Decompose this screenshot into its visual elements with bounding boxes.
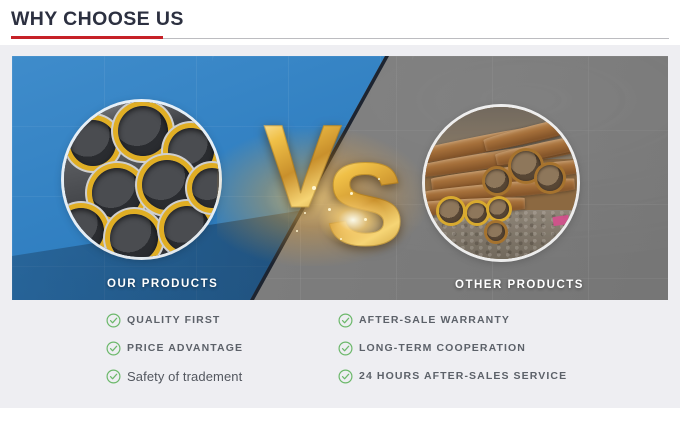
list-item: AFTER-SALE WARRANTY — [338, 306, 567, 334]
check-circle-icon — [106, 369, 121, 384]
list-item: Safety of tradement — [106, 362, 243, 390]
feature-label: QUALITY FIRST — [127, 314, 220, 326]
check-circle-icon — [106, 341, 121, 356]
check-circle-icon — [338, 369, 353, 384]
check-circle-icon — [338, 341, 353, 356]
versus-letter-s: S — [326, 146, 405, 264]
feature-column-right: AFTER-SALE WARRANTY LONG-TERM COOPERATIO… — [338, 306, 567, 390]
check-circle-icon — [106, 313, 121, 328]
other-products-image — [425, 107, 577, 259]
page-title: WHY CHOOSE US — [11, 8, 184, 31]
list-item: PRICE ADVANTAGE — [106, 334, 243, 362]
other-products-caption: OTHER PRODUCTS — [455, 279, 584, 291]
why-choose-us-section: WHY CHOOSE US — [0, 0, 680, 427]
our-products-caption: OUR PRODUCTS — [107, 278, 218, 290]
versus-emblem: V S — [260, 108, 430, 288]
feature-list: QUALITY FIRST PRICE ADVANTAGE — [0, 306, 680, 402]
feature-label: Safety of tradement — [127, 369, 242, 384]
list-item: QUALITY FIRST — [106, 306, 243, 334]
header-accent-underline — [11, 36, 163, 39]
feature-label: LONG-TERM COOPERATION — [359, 342, 526, 354]
comparison-banner: V S OUR PRODUCTS OTHER PRODUCTS — [12, 56, 668, 300]
list-item: LONG-TERM COOPERATION — [338, 334, 567, 362]
rusty-pipes-illustration — [425, 107, 577, 259]
list-item: 24 HOURS AFTER-SALES SERVICE — [338, 362, 567, 390]
clean-pipes-illustration — [64, 102, 219, 257]
our-products-image — [64, 102, 219, 257]
feature-label: PRICE ADVANTAGE — [127, 342, 243, 354]
feature-label: AFTER-SALE WARRANTY — [359, 314, 510, 326]
feature-column-left: QUALITY FIRST PRICE ADVANTAGE — [106, 306, 243, 390]
feature-label: 24 HOURS AFTER-SALES SERVICE — [359, 370, 567, 382]
check-circle-icon — [338, 313, 353, 328]
